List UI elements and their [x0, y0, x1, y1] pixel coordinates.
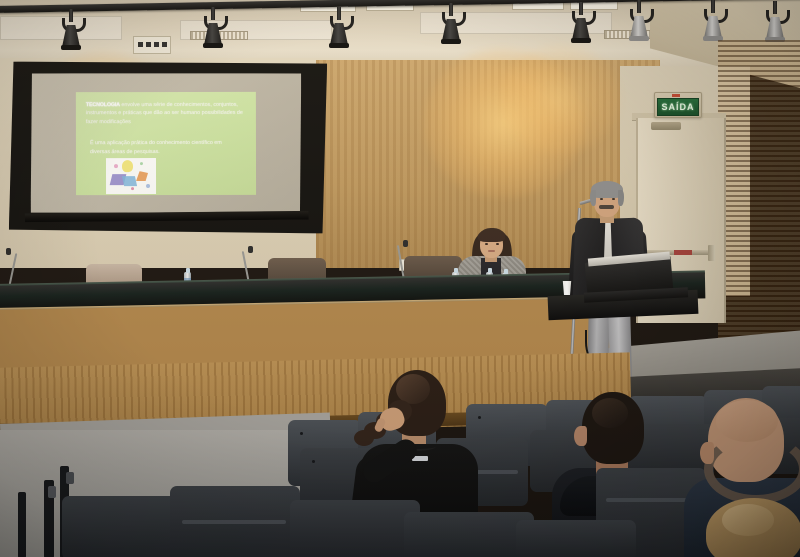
presentation-slide: TECNOLOGIA envolve uma série de conhecim… [76, 92, 256, 195]
audience-blonde-head [700, 498, 800, 557]
exit-sign-led [672, 94, 680, 97]
seat-frame-post [18, 492, 26, 557]
door-closer [651, 122, 681, 130]
audience-bald-ear [700, 442, 714, 464]
auditorium-photo: SAÍDA TECNOLOGIA envolve uma série de co… [0, 0, 800, 557]
slide-clipart-icon [106, 158, 156, 194]
slide-paragraph-2: É uma aplicação prática do conhecimento … [90, 139, 240, 157]
exit-sign: SAÍDA [657, 98, 699, 116]
audience-bald-hair-ring [704, 434, 800, 504]
projection-screen: TECNOLOGIA envolve uma série de conhecim… [7, 58, 329, 236]
presenter-hair-side-right [618, 190, 624, 206]
slide-keyword: TECNOLOGIA [86, 102, 120, 108]
ceiling-control-plate [133, 36, 171, 54]
presenter-mustache [599, 205, 614, 209]
wall-slatted-wood-texture [718, 40, 800, 340]
audience-woman-braid-segment [354, 430, 374, 446]
door-push-bar-indicator [674, 250, 692, 255]
auditorium-seat[interactable] [516, 520, 636, 557]
audience-man-hair-highlight [592, 398, 628, 428]
auditorium-seat[interactable] [290, 500, 420, 557]
audience-blonde-hair-highlight [722, 504, 774, 536]
ceiling-panel [0, 16, 122, 40]
door-latch[interactable] [708, 245, 715, 261]
auditorium-seat[interactable] [62, 496, 182, 557]
presenter-hair-side-left [590, 190, 596, 206]
audience-man-ear [574, 426, 587, 446]
auditorium-seat[interactable] [404, 512, 534, 557]
panelist-fringe [478, 230, 505, 242]
panelist-mouth [488, 250, 495, 252]
slide-paragraph-1: TECNOLOGIA envolve uma série de conhecim… [86, 101, 249, 126]
exit-sign-label: SAÍDA [661, 103, 694, 112]
